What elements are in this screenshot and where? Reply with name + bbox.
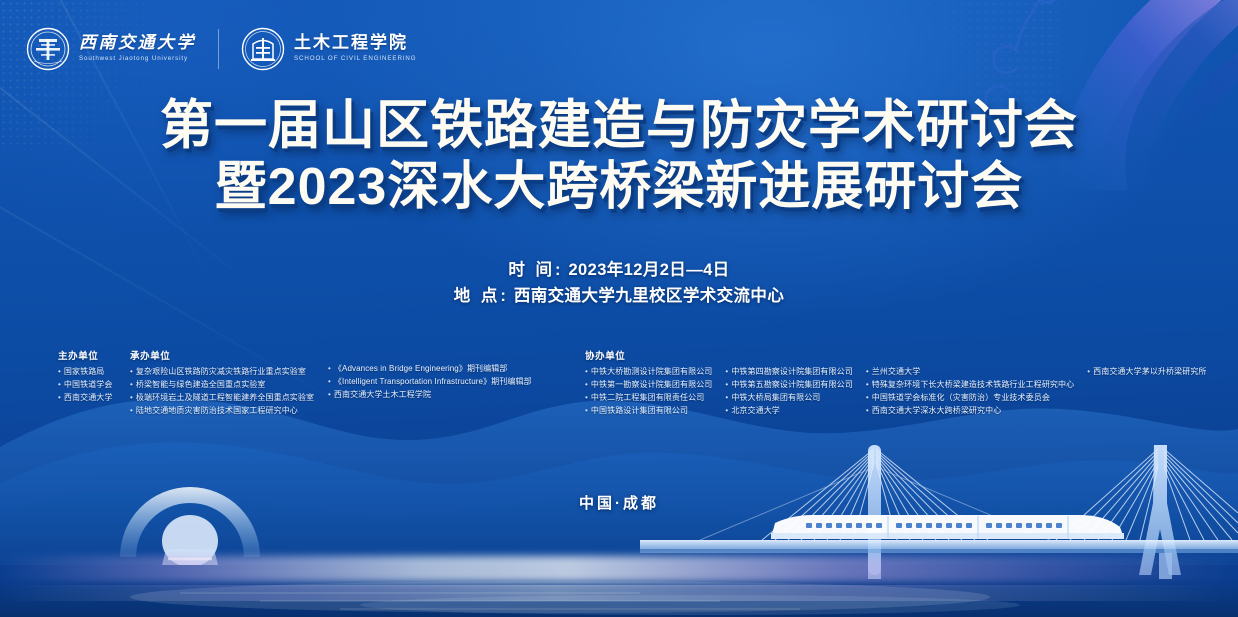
coorganizer-column-4: 西南交通大学茅以升桥梁研究所: [1087, 366, 1206, 418]
list-item: 西南交通大学土木工程学院: [328, 389, 532, 402]
event-place-value: 西南交通大学九里校区学术交流中心: [514, 287, 784, 305]
university-name-cn: 西南交通大学: [79, 34, 196, 52]
organizer-group-journals: 《Advances in Bridge Engineering》期刊编辑部 《I…: [328, 363, 532, 402]
coorganizer-list-4: 西南交通大学茅以升桥梁研究所: [1087, 366, 1206, 379]
list-item: 西南交通大学茅以升桥梁研究所: [1087, 366, 1206, 379]
university-name-en: Southwest Jiaotong University: [79, 54, 196, 63]
coorganizer-list-3: 兰州交通大学 特殊复杂环境下长大桥梁建造技术铁路行业工程研究中心 中国铁道学会标…: [866, 366, 1074, 418]
mountain-range-mid: [0, 443, 1238, 617]
list-item: 北京交通大学: [725, 405, 852, 418]
list-item: 中国铁道学会标准化（灾害防治）专业技术委员会: [866, 392, 1074, 405]
school-name-en: SCHOOL OF CIVIL ENGINEERING: [294, 54, 417, 63]
scenery-illustration: [0, 297, 1238, 617]
event-city: 中国·成都: [0, 492, 1238, 513]
water-glow-band: [0, 556, 1238, 582]
coorganizer-list-2: 中铁第四勘察设计院集团有限公司 中铁第五勘察设计院集团有限公司 中铁大桥局集团有…: [725, 366, 852, 418]
list-item: 极端环境岩土及隧道工程智能建养全国重点实验室: [130, 392, 314, 405]
logo-school-of-civil-engineering: 土木工程学院 SCHOOL OF CIVIL ENGINEERING: [241, 27, 417, 71]
list-item: 《Advances in Bridge Engineering》期刊编辑部: [328, 363, 532, 376]
logo-text-block: 土木工程学院 SCHOOL OF CIVIL ENGINEERING: [294, 34, 417, 63]
event-time-value: 2023年12月2日—4日: [568, 261, 729, 279]
list-item: 复杂艰险山区铁路防灾减灾铁路行业重点实验室: [130, 366, 314, 379]
list-item: 中铁二院工程集团有限责任公司: [585, 392, 712, 405]
logo-southwest-jiaotong-university: 西南交通大学 Southwest Jiaotong University: [26, 27, 196, 71]
organizer-heading-undertake: 承办单位: [130, 348, 314, 362]
organizer-list-journals: 《Advances in Bridge Engineering》期刊编辑部 《I…: [328, 363, 532, 402]
high-speed-train: [771, 515, 1124, 539]
organizer-list-undertake: 复杂艰险山区铁路防灾减灾铁路行业重点实验室 桥梁智能与绿色建造全国重点实验室 极…: [130, 366, 314, 418]
event-time: 时 间: 2023年12月2日—4日: [0, 258, 1238, 284]
event-city-text: 中国·成都: [579, 495, 659, 512]
coorganizer-column-1: 中铁大桥勘测设计院集团有限公司 中铁第一勘察设计院集团有限公司 中铁二院工程集团…: [585, 366, 712, 418]
list-item: 《Intelligent Transportation Infrastructu…: [328, 376, 532, 389]
list-item: 中铁大桥局集团有限公司: [725, 392, 852, 405]
list-item: 西南交通大学: [58, 392, 130, 405]
list-item: 特殊复杂环境下长大桥梁建造技术铁路行业工程研究中心: [866, 379, 1074, 392]
school-name-cn: 土木工程学院: [294, 34, 417, 52]
school-seal-icon: [241, 27, 285, 71]
list-item: 中铁第四勘察设计院集团有限公司: [725, 366, 852, 379]
organizer-group-undertake: 承办单位 复杂艰险山区铁路防灾减灾铁路行业重点实验室 桥梁智能与绿色建造全国重点…: [130, 348, 314, 418]
organizer-heading-coorganizer: 协办单位: [585, 348, 1207, 362]
list-item: 中国铁道学会: [58, 379, 130, 392]
list-item: 桥梁智能与绿色建造全国重点实验室: [130, 379, 314, 392]
title-line-1: 第一届山区铁路建造与防灾学术研讨会: [0, 96, 1238, 156]
coorganizer-list-1: 中铁大桥勘测设计院集团有限公司 中铁第一勘察设计院集团有限公司 中铁二院工程集团…: [585, 366, 712, 418]
logo-divider: [218, 29, 219, 69]
coorganizer-column-3: 兰州交通大学 特殊复杂环境下长大桥梁建造技术铁路行业工程研究中心 中国铁道学会标…: [866, 366, 1074, 418]
logo-text-block: 西南交通大学 Southwest Jiaotong University: [79, 34, 196, 63]
list-item: 中铁大桥勘测设计院集团有限公司: [585, 366, 712, 379]
event-meta: 时 间: 2023年12月2日—4日 地 点: 西南交通大学九里校区学术交流中心: [0, 258, 1238, 309]
list-item: 陆地交通地质灾害防治技术国家工程研究中心: [130, 405, 314, 418]
water-reflection: [0, 585, 1238, 601]
list-item: 中国铁路设计集团有限公司: [585, 405, 712, 418]
event-place-label: 地 点:: [454, 287, 509, 305]
poster-title: 第一届山区铁路建造与防灾学术研讨会 暨2023深水大跨桥梁新进展研讨会: [0, 96, 1238, 218]
water-surface: [0, 565, 1238, 617]
event-place: 地 点: 西南交通大学九里校区学术交流中心: [0, 284, 1238, 310]
list-item: 中铁第五勘察设计院集团有限公司: [725, 379, 852, 392]
logo-bar: 西南交通大学 Southwest Jiaotong University 土木工…: [26, 24, 417, 74]
title-line-2: 暨2023深水大跨桥梁新进展研讨会: [0, 158, 1238, 217]
organizer-heading-host: 主办单位: [58, 348, 130, 362]
university-seal-icon: [26, 27, 70, 71]
list-item: 兰州交通大学: [866, 366, 1074, 379]
organizer-group-host: 主办单位 国家铁路局 中国铁道学会 西南交通大学: [58, 348, 130, 405]
coorganizer-column-2: 中铁第四勘察设计院集团有限公司 中铁第五勘察设计院集团有限公司 中铁大桥局集团有…: [725, 366, 852, 418]
organizer-list-host: 国家铁路局 中国铁道学会 西南交通大学: [58, 366, 130, 405]
list-item: 中铁第一勘察设计院集团有限公司: [585, 379, 712, 392]
event-time-label: 时 间:: [508, 261, 563, 279]
conference-poster: 西南交通大学 Southwest Jiaotong University 土木工…: [0, 0, 1238, 617]
list-item: 西南交通大学深水大跨桥梁研究中心: [866, 405, 1074, 418]
list-item: 国家铁路局: [58, 366, 130, 379]
organizer-group-coorganizer: 协办单位 中铁大桥勘测设计院集团有限公司 中铁第一勘察设计院集团有限公司 中铁二…: [585, 348, 1207, 418]
